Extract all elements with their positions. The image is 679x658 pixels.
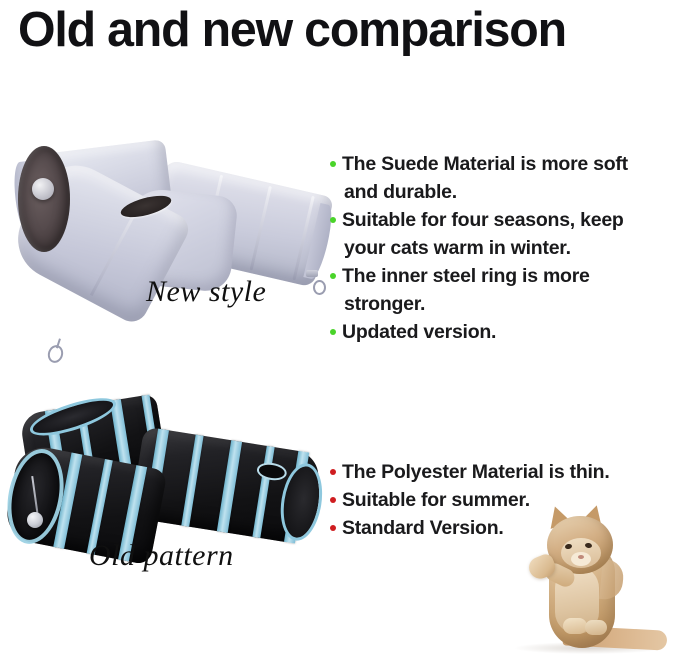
list-item-continuation: and durable.: [330, 178, 676, 206]
new-style-caption: New style: [146, 275, 266, 309]
bullet-dot-icon: [330, 525, 336, 531]
blue-band: [181, 435, 203, 527]
feature-text: Standard Version.: [342, 514, 504, 542]
feature-text: The Polyester Material is thin.: [342, 458, 610, 486]
metal-ring-icon: [46, 343, 66, 365]
cat-front-paw: [585, 620, 607, 635]
bullet-dot-icon: [330, 497, 336, 503]
blue-band: [217, 440, 242, 533]
list-item-continuation: stronger.: [330, 290, 676, 318]
bullet-dot-icon: [330, 273, 336, 279]
cat-front-paw: [563, 618, 587, 634]
blue-band: [252, 446, 274, 538]
bullet-dot-icon: [330, 329, 336, 335]
feature-text: and durable.: [344, 178, 457, 206]
list-item: The Polyester Material is thin.: [330, 458, 676, 486]
kitten-image: [505, 500, 675, 658]
old-tunnel-image: [6, 398, 316, 558]
feature-text: Suitable for four seasons, keep: [342, 206, 624, 234]
feature-text: The Suede Material is more soft: [342, 150, 628, 178]
list-item: Suitable for four seasons, keep: [330, 206, 676, 234]
list-item: The inner steel ring is more: [330, 262, 676, 290]
seam: [250, 186, 272, 270]
bullet-dot-icon: [330, 161, 336, 167]
feature-text: your cats warm in winter.: [344, 234, 571, 262]
old-pattern-caption: Old pattern: [89, 539, 234, 573]
hanging-ball-toy: [32, 178, 54, 200]
list-item-continuation: your cats warm in winter.: [330, 234, 676, 262]
list-item: Updated version.: [330, 318, 676, 346]
old-tunnel-top-opening: [26, 391, 120, 444]
infographic-page: Old and new comparison New style The Sue: [0, 0, 679, 658]
new-tunnel-opening: [18, 146, 70, 252]
new-tunnel-image: [8, 140, 328, 380]
feature-text: Suitable for summer.: [342, 486, 530, 514]
list-item: The Suede Material is more soft: [330, 150, 676, 178]
cat-nose: [578, 555, 584, 559]
feature-text: Updated version.: [342, 318, 496, 346]
new-product-feature-list: The Suede Material is more soft and dura…: [330, 150, 676, 346]
zipper-tab: [306, 270, 318, 277]
bullet-dot-icon: [330, 469, 336, 475]
hanging-ball-toy: [27, 512, 43, 528]
feature-text: The inner steel ring is more: [342, 262, 590, 290]
metal-ring-icon: [313, 280, 326, 295]
page-title: Old and new comparison: [18, 2, 658, 58]
bullet-dot-icon: [330, 217, 336, 223]
feature-text: stronger.: [344, 290, 425, 318]
